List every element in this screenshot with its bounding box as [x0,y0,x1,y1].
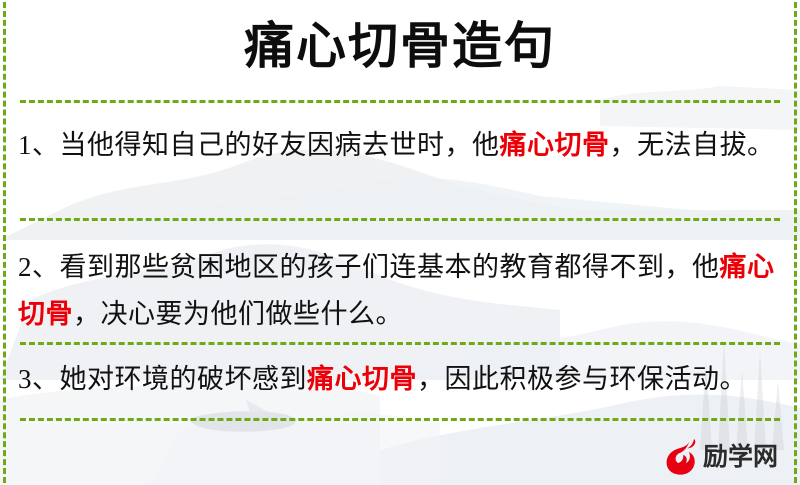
sentence-2-after: ，决心要为他们做些什么。 [73,299,403,329]
red-swirl-flame-icon [663,438,699,476]
example-sentence-2: 2、看到那些贫困地区的孩子们连基本的教育都得不到，他痛心切骨，决心要为他们做些什… [18,244,780,338]
example-sentence-3: 3、她对环境的破坏感到痛心切骨，因此积极参与环保活动。 [18,356,780,403]
sentence-1-index: 1、 [18,130,60,160]
sentence-2-before: 看到那些贫困地区的孩子们连基本的教育都得不到，他 [60,252,720,282]
sentence-3-before: 她对环境的破坏感到 [60,364,308,394]
sentence-2-index: 2、 [18,252,60,282]
sentence-3-idiom: 痛心切骨 [307,364,417,394]
site-logo-text: 励学网 [703,443,778,471]
sentence-example-page: 痛心切骨造句 1、当他得知自己的好友因病去世时，他痛心切骨，无法自拔。 2、看到… [0,0,800,485]
divider-3 [20,342,780,345]
sentence-3-index: 3、 [18,364,60,394]
page-title: 痛心切骨造句 [0,10,800,82]
divider-2 [20,218,780,221]
sentence-3-after: ，因此积极参与环保活动。 [417,364,747,394]
example-sentence-1: 1、当他得知自己的好友因病去世时，他痛心切骨，无法自拔。 [18,122,780,169]
sentence-1-before: 当他得知自己的好友因病去世时，他 [60,130,500,160]
divider-4 [20,418,780,421]
sentence-1-after: ，无法自拔。 [610,130,775,160]
site-logo[interactable]: 励学网 [663,437,778,477]
sentence-1-idiom: 痛心切骨 [500,130,610,160]
divider-1 [20,100,780,103]
